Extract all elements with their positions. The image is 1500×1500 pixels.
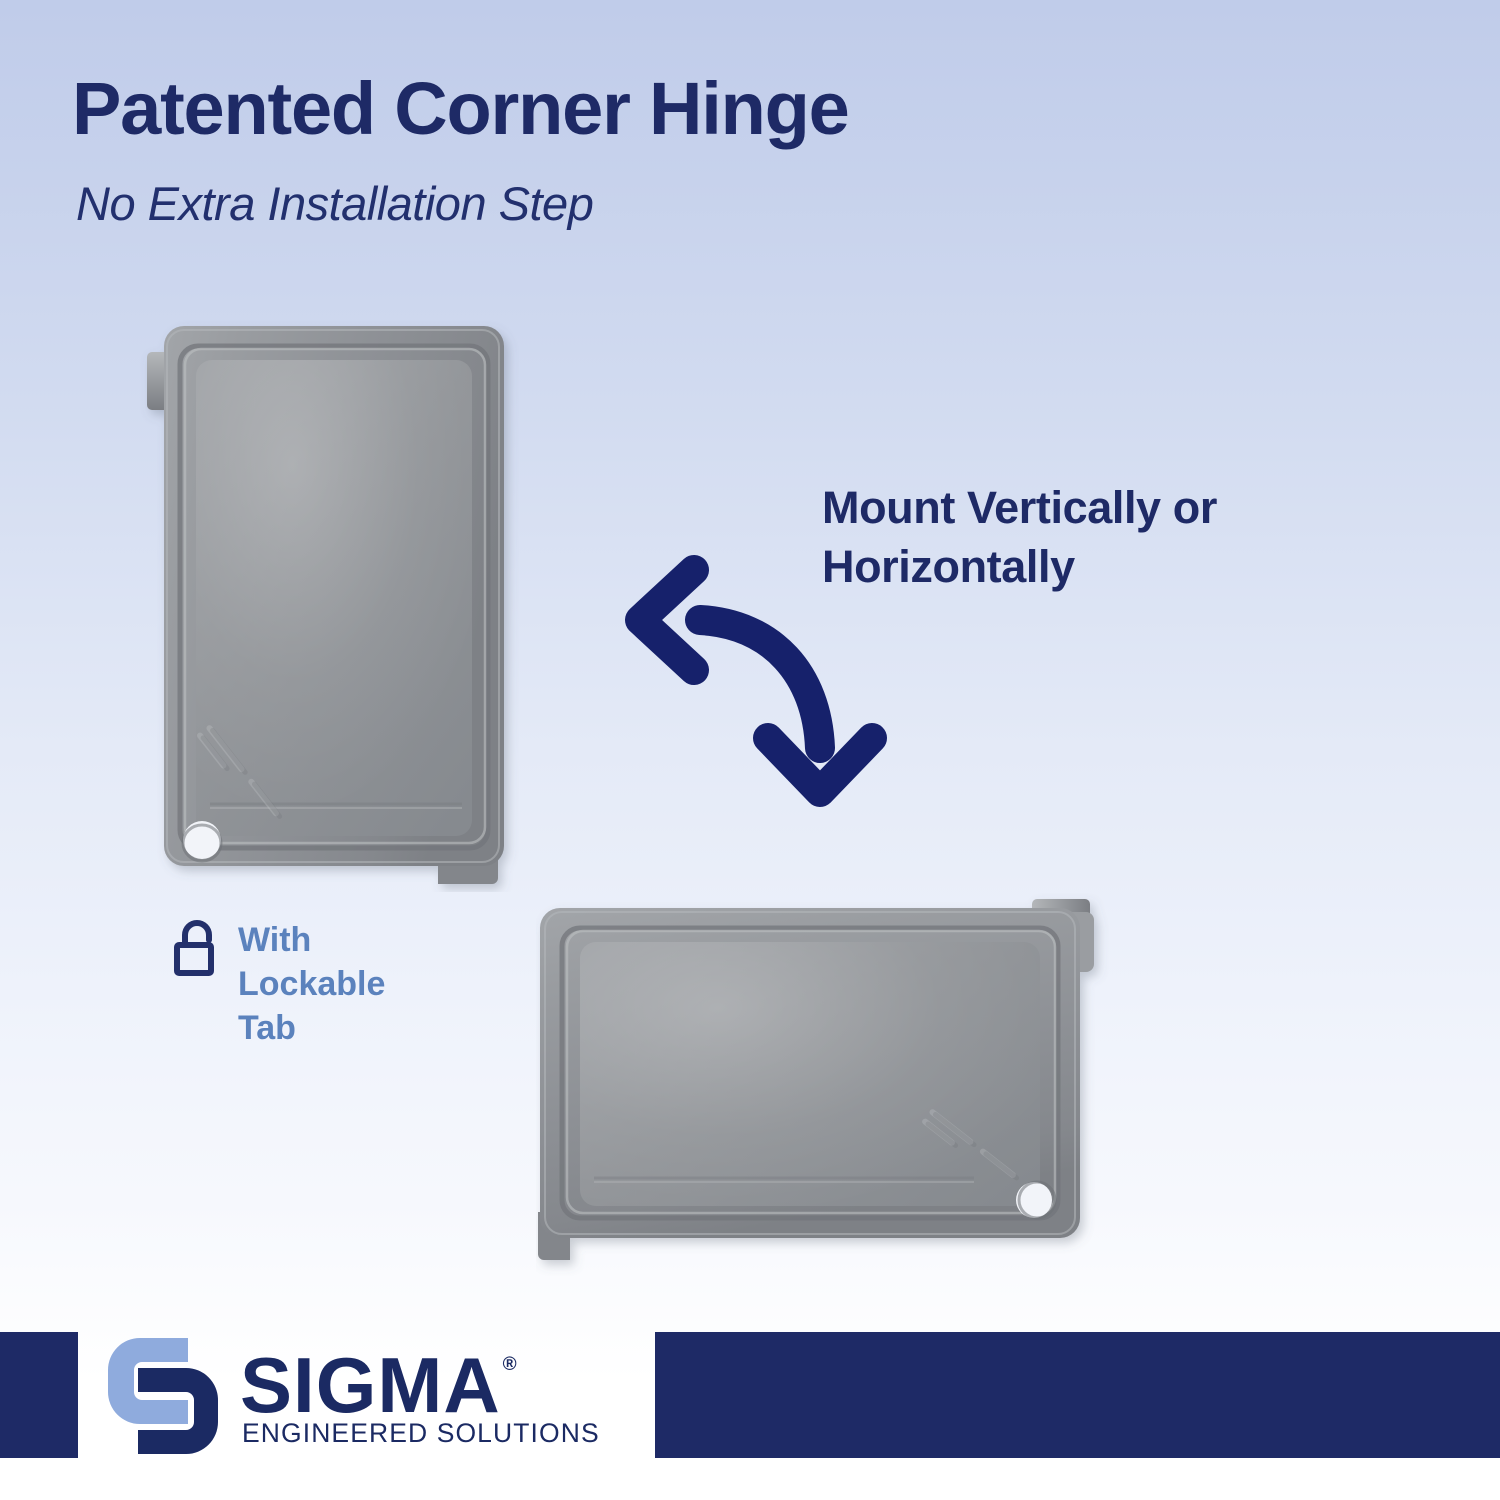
registered-trademark-icon: ® [503, 1354, 517, 1376]
sigma-logo: SIGMA ® ENGINEERED SOLUTIONS [100, 1330, 600, 1467]
sigma-interlocking-s-icon [100, 1330, 226, 1467]
open-padlock-icon [172, 920, 222, 983]
lockable-line-3: Tab [238, 1009, 296, 1047]
poster-canvas: Patented Corner Hinge No Extra Installat… [0, 0, 1500, 1500]
callout-line-1: Mount Vertically or [822, 478, 1382, 537]
footer-bar-right [655, 1332, 1500, 1458]
weatherproof-cover-horizontal [536, 872, 1136, 1287]
lockable-tab-feature: With Lockable Tab [172, 918, 428, 1051]
sigma-wordmark: SIGMA ® ENGINEERED SOLUTIONS [240, 1348, 600, 1450]
sigma-brand-text: SIGMA [240, 1348, 501, 1423]
lockable-line-2: Lockable [238, 965, 385, 1003]
callout-line-2: Horizontally [822, 537, 1382, 596]
page-title: Patented Corner Hinge [72, 72, 849, 146]
page-subtitle: No Extra Installation Step [76, 176, 593, 231]
weatherproof-cover-vertical [138, 312, 538, 897]
footer-bar-left [0, 1332, 78, 1458]
sigma-brand-row: SIGMA ® [240, 1348, 600, 1423]
footer: SIGMA ® ENGINEERED SOLUTIONS [0, 1332, 1500, 1458]
mount-orientation-callout: Mount Vertically or Horizontally [822, 478, 1382, 597]
lockable-tab-label: With Lockable Tab [238, 918, 428, 1051]
lockable-line-1: With [238, 921, 311, 959]
sigma-tagline: ENGINEERED SOLUTIONS [242, 1418, 600, 1449]
